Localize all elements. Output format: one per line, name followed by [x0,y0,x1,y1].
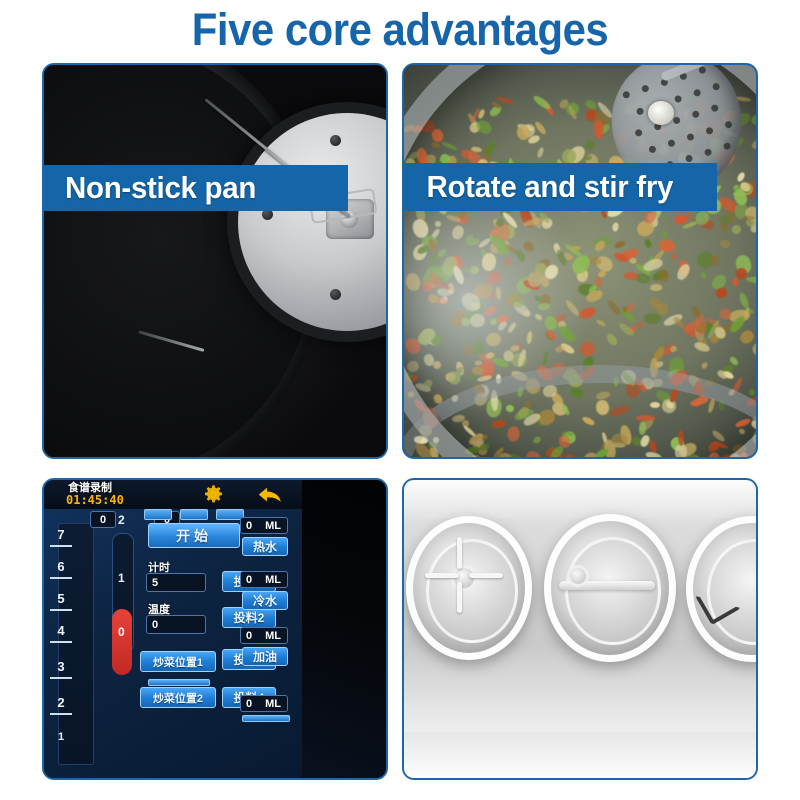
paddle-hole [691,110,700,119]
scale-tick [50,677,72,679]
liquid-value-text: 0 [246,630,252,642]
panel-rotate-stir-fry: Rotate and stir fry [402,63,758,459]
scale-tick [50,545,72,547]
paddle-hole [724,120,733,129]
cold-water-button[interactable]: 冷水 [242,591,288,610]
paddle-hole [641,84,650,93]
pot-right [686,516,756,662]
stirrer-blade [425,573,459,578]
paddle-hole [705,126,714,135]
pot-left [406,516,532,660]
scale-value: 6 [44,559,78,574]
liquid-unit-text: ML [265,574,281,586]
scale-value: 2 [44,695,78,710]
liquid-value-text: 0 [246,520,252,532]
scale-tick [50,641,72,643]
panel-stir-fry-evenly: Stir fry evenly [402,478,758,780]
paddle-hole [712,82,721,91]
scale-value: 5 [44,591,78,606]
control-panel-controls: 7 6 5 4 3 2 1 0 0 2 1 [44,509,302,778]
pot-center [544,514,676,662]
paddle-hole [723,142,732,151]
pots-photo [404,480,756,778]
level-slider-fill [112,609,132,675]
paddle-hole [686,133,695,142]
slider-value: 1 [118,571,125,585]
mini-button[interactable] [144,509,172,520]
paddle-hole [704,148,713,157]
disc-bolt [330,289,341,300]
recording-timer: 01:45:40 [66,494,124,507]
paddle-screw [648,101,674,125]
start-button[interactable]: 开始 [148,523,240,548]
page-title: Five core advantages [28,2,772,58]
scale-value: 7 [44,527,78,542]
scale-tick [50,577,72,579]
pot-inner-left [426,539,517,644]
machine-top-strip [404,480,756,518]
stirrer-hub-center [567,565,589,587]
advantages-infographic: Five core advantages Non-stick pan [0,0,800,800]
paddle-hole [622,90,631,99]
slider-value: 0 [118,625,125,639]
position-button-2[interactable]: 炒菜位置2 [140,687,216,708]
liquid-value-3[interactable]: 0 ML [240,627,288,644]
non-stick-pan-photo [44,65,386,457]
machine-bottom-strip [404,732,756,778]
stir-fry-photo [404,65,756,457]
timer-field-value[interactable]: 5 [146,573,206,592]
caption-banner-rotate-stir-fry: Rotate and stir fry [404,163,717,211]
scale-value: 4 [44,623,78,638]
value-box-left[interactable]: 0 [90,511,116,528]
paddle-hole [636,107,645,116]
liquid-value-1[interactable]: 0 ML [240,517,288,534]
liquid-value-2[interactable]: 0 ML [240,571,288,588]
scale-tick [50,713,72,715]
gear-icon[interactable] [203,484,224,505]
add-oil-button[interactable]: 加油 [242,647,288,666]
liquid-value-text: 0 [246,574,252,586]
disc-bolt [330,135,341,146]
feed-button-2[interactable]: 投料2 [222,607,276,628]
stirrer-blade [457,581,462,613]
scale-tick [50,609,72,611]
temperature-field-value[interactable]: 0 [146,615,206,634]
paddle-hole [710,104,719,113]
liquid-unit-text: ML [265,630,281,642]
mini-button[interactable] [148,679,210,686]
paddle-hole [672,116,681,125]
caption-text: Non-stick pan [65,170,256,206]
paddle-hole [674,95,683,104]
mini-button[interactable] [242,715,290,722]
position-button-1[interactable]: 炒菜位置1 [140,651,216,672]
control-panel-photo: 食谱录制 01:45:40 7 6 5 4 3 [44,480,386,778]
stirrer-hub-left [451,565,477,591]
slider-value: 2 [118,513,125,527]
paddle-hole [685,154,694,163]
hot-water-button[interactable]: 热水 [242,537,288,556]
paddle-hole [667,139,676,148]
caption-text: Rotate and stir fry [426,169,673,205]
paddle-hole [693,88,702,97]
panel-non-stick-pan: Non-stick pan [42,63,388,459]
liquid-unit-text: ML [265,520,281,532]
panel-control-panel: 食谱录制 01:45:40 7 6 5 4 3 [42,478,388,780]
paddle-hole [648,145,657,154]
liquid-value-text: 0 [246,698,252,710]
liquid-value-4[interactable]: 0 ML [240,695,288,712]
pot-inner-center [565,537,661,645]
caption-banner-non-stick-pan: Non-stick pan [44,165,348,211]
back-arrow-icon[interactable] [258,485,284,505]
liquid-unit-text: ML [265,698,281,710]
scale-value: 1 [44,731,78,743]
paddle-hole [634,128,643,137]
mini-button[interactable] [180,509,208,520]
stirrer-blade [469,573,503,578]
scale-value: 3 [44,659,78,674]
stirrer-blade [457,537,462,569]
